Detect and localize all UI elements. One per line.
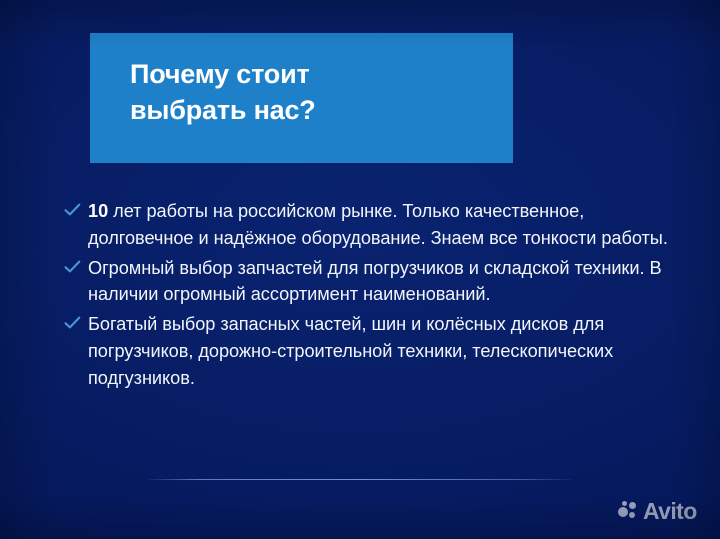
- list-item-text: Богатый выбор запасных частей, шин и кол…: [88, 311, 676, 391]
- slide-canvas: Почему стоит выбрать нас? 10 лет работы …: [0, 0, 720, 539]
- list-item-text: 10 лет работы на российском рынке. Тольк…: [88, 198, 676, 252]
- title-banner: Почему стоит выбрать нас?: [90, 33, 513, 163]
- list-item-body: лет работы на российском рынке. Только к…: [88, 201, 668, 248]
- list-item: 10 лет работы на российском рынке. Тольк…: [64, 198, 676, 252]
- benefits-list: 10 лет работы на российском рынке. Тольк…: [64, 198, 676, 394]
- avito-dots-icon: [618, 500, 641, 523]
- list-item: Огромный выбор запчастей для погрузчиков…: [64, 255, 676, 309]
- list-item-lead: 10: [88, 201, 108, 221]
- avito-wordmark: Avito: [643, 500, 697, 523]
- avito-watermark: Avito: [618, 500, 697, 523]
- page-title: Почему стоит выбрать нас?: [130, 57, 499, 129]
- list-item-body: Богатый выбор запасных частей, шин и кол…: [88, 314, 613, 388]
- check-icon: [64, 260, 81, 282]
- list-item-text: Огромный выбор запчастей для погрузчиков…: [88, 255, 676, 309]
- list-item: Богатый выбор запасных частей, шин и кол…: [64, 311, 676, 391]
- divider: [148, 479, 572, 480]
- list-item-body: Огромный выбор запчастей для погрузчиков…: [88, 258, 662, 305]
- check-icon: [64, 316, 81, 338]
- check-icon: [64, 203, 81, 225]
